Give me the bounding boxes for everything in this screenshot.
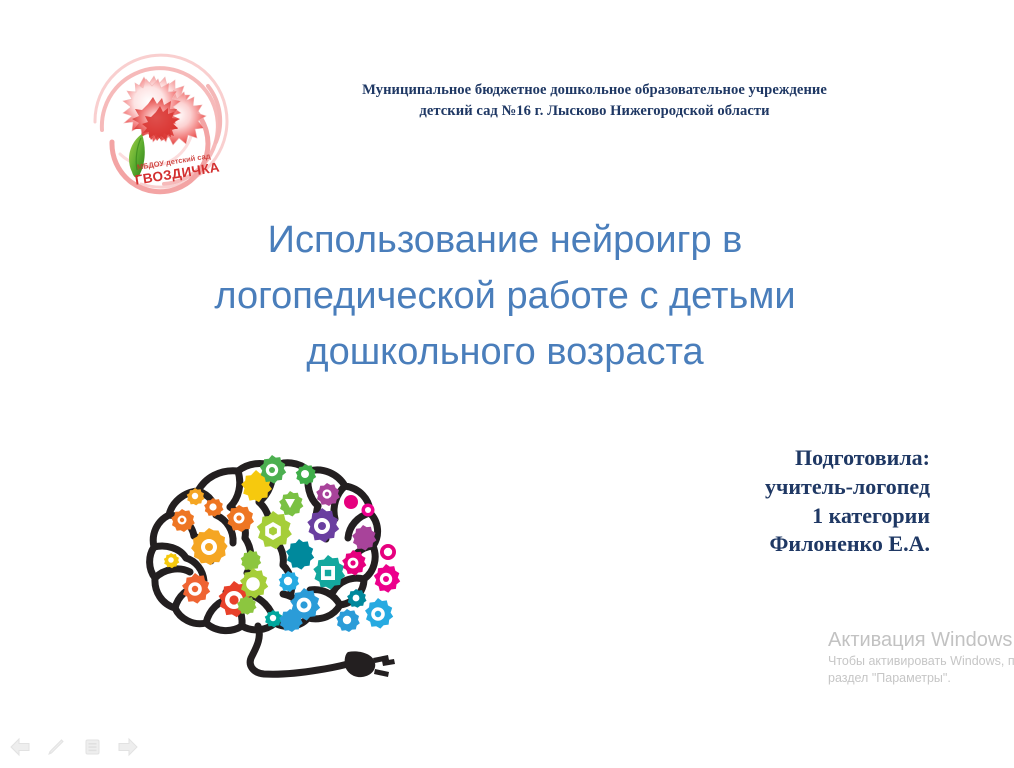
author-line-4: Филоненко Е.А.	[610, 530, 930, 559]
gear-cluster	[164, 455, 400, 632]
author-line-3: 1 категории	[610, 502, 930, 531]
previous-slide-button[interactable]	[8, 735, 32, 759]
organization-header: Муниципальное бюджетное дошкольное образ…	[262, 80, 927, 121]
windows-activation-watermark: Активация Windows Чтобы активировать Win…	[828, 628, 1014, 687]
power-plug-icon	[345, 651, 395, 677]
author-block: Подготовила: учитель-логопед 1 категории…	[610, 444, 930, 559]
pen-icon	[45, 737, 67, 757]
presentation-slide: МБДОУ детский сад ГВОЗДИЧКА Муниципально…	[0, 0, 1014, 768]
author-line-1: Подготовила:	[610, 444, 930, 473]
organization-line-1: Муниципальное бюджетное дошкольное образ…	[362, 82, 827, 98]
activation-sub-line-2: раздел "Параметры".	[828, 670, 1014, 687]
activation-title: Активация Windows	[828, 628, 1014, 653]
slide-title-line-2: логопедической работе с детьми	[95, 268, 915, 324]
pen-tool-button[interactable]	[44, 735, 68, 759]
arrow-left-icon	[9, 737, 31, 757]
brain-with-gears-illustration	[142, 442, 404, 690]
slide-title: Использование нейроигр в логопедической …	[95, 212, 915, 381]
next-slide-button[interactable]	[116, 735, 140, 759]
notes-icon	[81, 737, 103, 757]
kindergarten-logo: МБДОУ детский сад ГВОЗДИЧКА	[82, 42, 238, 198]
arrow-right-icon	[117, 737, 139, 757]
organization-line-2: детский сад №16 г. Лысково Нижегородской…	[262, 101, 927, 122]
gear-dot	[344, 495, 358, 509]
author-line-2: учитель-логопед	[610, 473, 930, 502]
activation-sub-line-1: Чтобы активировать Windows, перейдите в	[828, 653, 1014, 670]
slide-title-line-3: дошкольного возраста	[95, 324, 915, 380]
slide-title-line-1: Использование нейроигр в	[95, 212, 915, 268]
speaker-notes-button[interactable]	[80, 735, 104, 759]
presenter-toolbar[interactable]	[8, 734, 140, 760]
